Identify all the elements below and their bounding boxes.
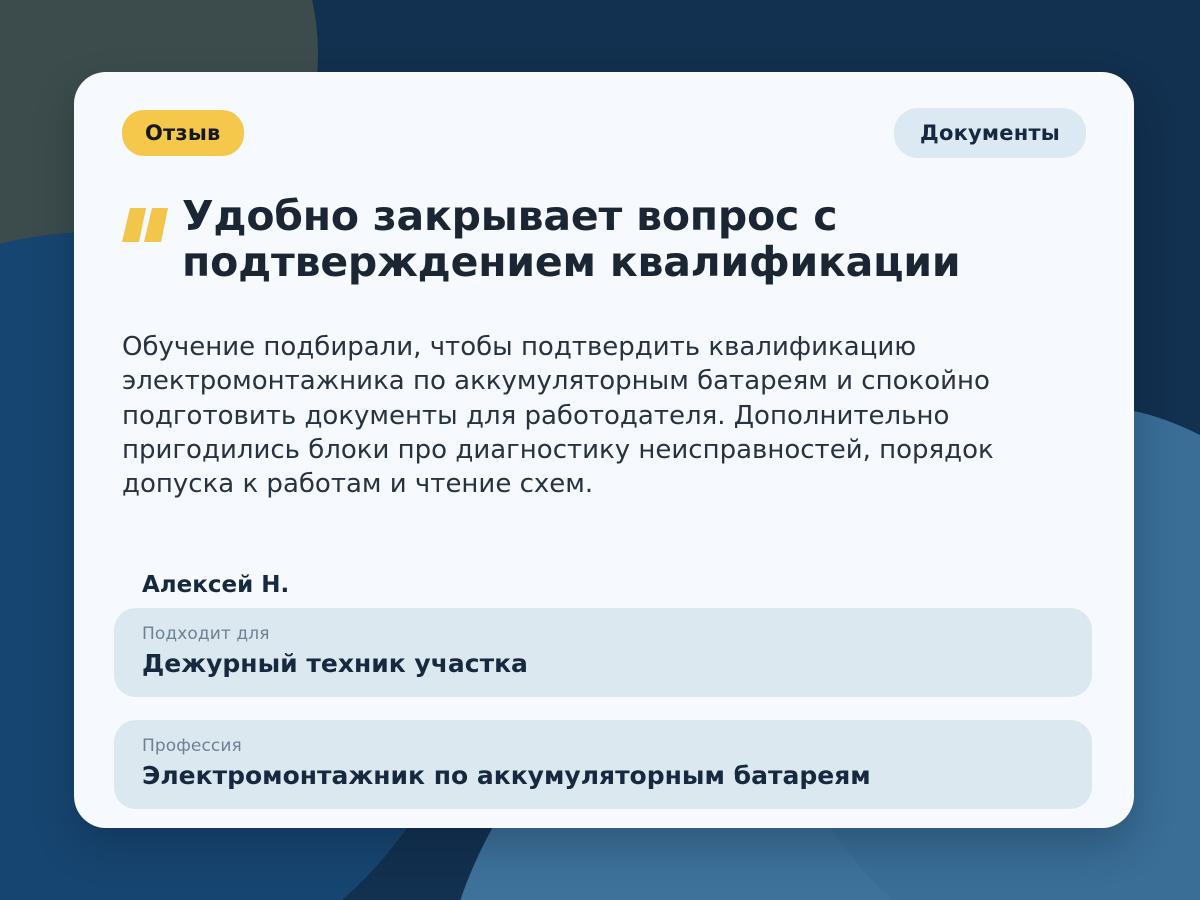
- info-card-label: Профессия: [142, 736, 1064, 756]
- badge-row: Отзыв Документы: [74, 108, 1134, 158]
- info-card-value: Дежурный техник участка: [142, 649, 1064, 679]
- review-tag-badge[interactable]: Отзыв: [122, 110, 244, 156]
- info-card-profession: Профессия Электромонтажник по аккумулято…: [114, 720, 1092, 809]
- info-card-value: Электромонтажник по аккумуляторным батар…: [142, 761, 1064, 791]
- page-background: Отзыв Документы Удобно закрывает вопрос …: [0, 0, 1200, 900]
- info-card-label: Подходит для: [142, 624, 1064, 644]
- author-name: Алексей Н.: [142, 572, 289, 598]
- review-body-text: Обучение подбирали, чтобы подтвердить кв…: [122, 330, 1032, 502]
- page-title: Удобно закрывает вопрос с подтверждением…: [182, 194, 1062, 286]
- review-card: Отзыв Документы Удобно закрывает вопрос …: [74, 72, 1134, 828]
- documents-badge[interactable]: Документы: [894, 108, 1086, 158]
- quote-mark-icon: [122, 208, 170, 248]
- info-card-suitable-for: Подходит для Дежурный техник участка: [114, 608, 1092, 697]
- headline-block: Удобно закрывает вопрос с подтверждением…: [122, 194, 1062, 286]
